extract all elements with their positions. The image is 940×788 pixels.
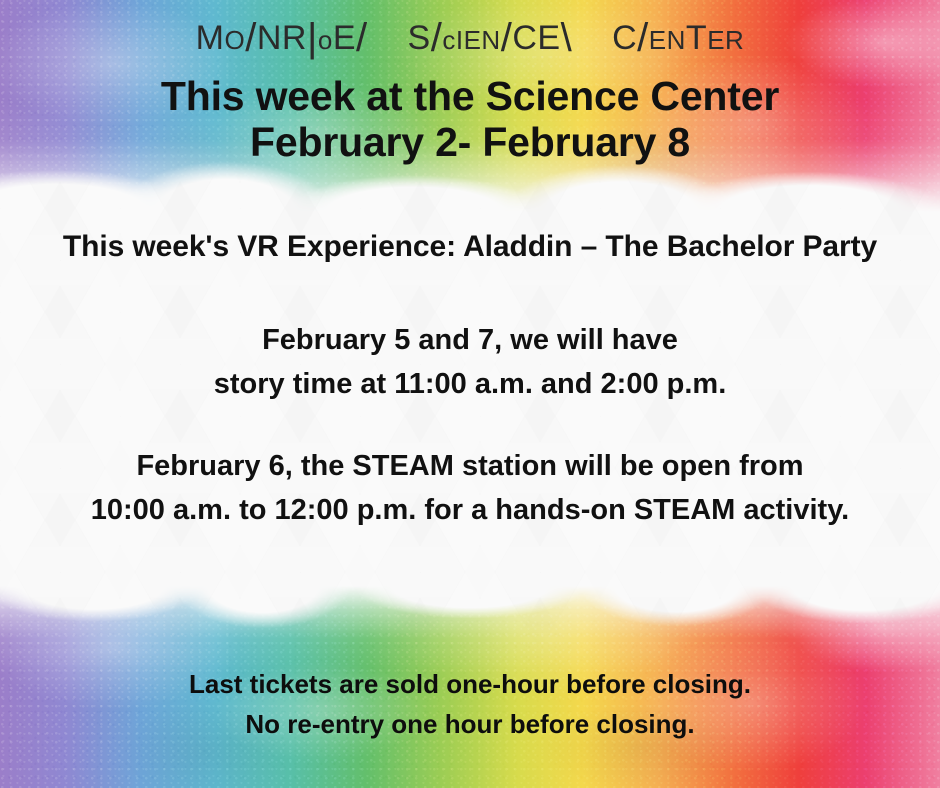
closing-policy-block: Last tickets are sold one-hour before cl…: [0, 665, 940, 745]
science-center-weekly-poster: MO/NR|oE/ S/cIEN/CE\ C/ENTER This week a…: [0, 0, 940, 788]
logo-separator: /: [245, 18, 257, 58]
footer-line-1-last-tickets: Last tickets are sold one-hour before cl…: [0, 665, 940, 705]
footer-line-2-no-reentry: No re-entry one hour before closing.: [0, 705, 940, 745]
logo-separator: /: [356, 18, 368, 58]
logo-word-science: S/cIEN/CE\: [408, 19, 573, 57]
page-title: This week at the Science Center February…: [0, 74, 940, 166]
logo-separator: /: [637, 18, 649, 58]
logo-separator: |: [307, 18, 318, 58]
logo-char: O: [224, 25, 245, 55]
logo-separator: /: [431, 18, 443, 58]
logo-char: C: [612, 19, 637, 57]
monroe-science-center-logo: MO/NR|oE/ S/cIEN/CE\ C/ENTER: [0, 16, 940, 56]
logo-char: o: [318, 25, 333, 55]
logo-char: CE: [512, 19, 560, 57]
logo-char: cI: [442, 25, 463, 55]
story-time-line-1: February 5 and 7, we will have: [0, 318, 940, 362]
logo-char: N: [257, 19, 282, 57]
story-time-line-2: story time at 11:00 a.m. and 2:00 p.m.: [0, 362, 940, 406]
logo-char: S: [408, 19, 431, 57]
logo-char: M: [196, 19, 225, 57]
logo-char: ER: [707, 25, 744, 55]
logo-separator: /: [501, 18, 513, 58]
logo-char: T: [686, 19, 707, 57]
steam-line-2: 10:00 a.m. to 12:00 p.m. for a hands-on …: [0, 488, 940, 532]
logo-separator: \: [561, 18, 573, 58]
steam-line-1: February 6, the STEAM station will be op…: [0, 444, 940, 488]
logo-char: R: [282, 19, 307, 57]
vr-experience-line: This week's VR Experience: Aladdin – The…: [0, 230, 940, 264]
story-time-block: February 5 and 7, we will have story tim…: [0, 318, 940, 406]
logo-char: E: [333, 19, 356, 57]
poster-content: MO/NR|oE/ S/cIEN/CE\ C/ENTER This week a…: [0, 0, 940, 788]
headline-line-2-date-range: February 2- February 8: [0, 120, 940, 166]
steam-station-block: February 6, the STEAM station will be op…: [0, 444, 940, 532]
logo-char: EN: [464, 25, 501, 55]
logo-char: EN: [649, 25, 686, 55]
headline-line-1: This week at the Science Center: [161, 73, 779, 119]
logo-word-center: C/ENTER: [612, 19, 744, 57]
logo-word-monroe: MO/NR|oE/: [196, 19, 368, 57]
